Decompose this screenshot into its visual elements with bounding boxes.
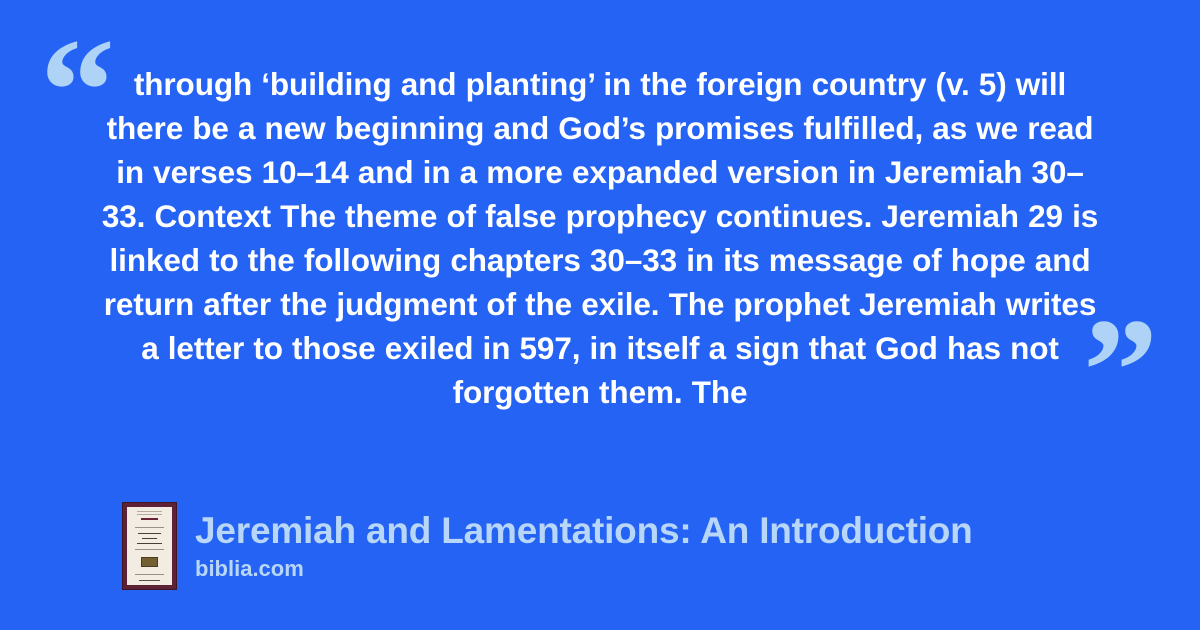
book-cover-thumbnail [122, 502, 177, 590]
quote-text: through ‘building and planting’ in the f… [100, 62, 1100, 414]
cover-series-line [137, 514, 163, 515]
cover-imprint-bar [141, 518, 158, 520]
source-name: biblia.com [195, 556, 973, 582]
cover-rule [135, 574, 165, 575]
cover-rule [135, 527, 165, 528]
quote-card: “ ” through ‘building and planting’ in t… [0, 0, 1200, 630]
cover-rule [135, 549, 165, 550]
book-title: Jeremiah and Lamentations: An Introducti… [195, 510, 973, 552]
footer-text: Jeremiah and Lamentations: An Introducti… [195, 510, 973, 582]
cover-series-line [137, 511, 163, 512]
footer: Jeremiah and Lamentations: An Introducti… [122, 502, 973, 590]
cover-title-line [137, 543, 163, 544]
cover-author-line [139, 580, 160, 581]
quote-body: through ‘building and planting’ in the f… [100, 62, 1100, 414]
cover-title-line [142, 538, 156, 539]
cover-emblem-icon [141, 557, 158, 567]
book-cover-page [127, 507, 172, 585]
cover-title-line [138, 533, 161, 534]
